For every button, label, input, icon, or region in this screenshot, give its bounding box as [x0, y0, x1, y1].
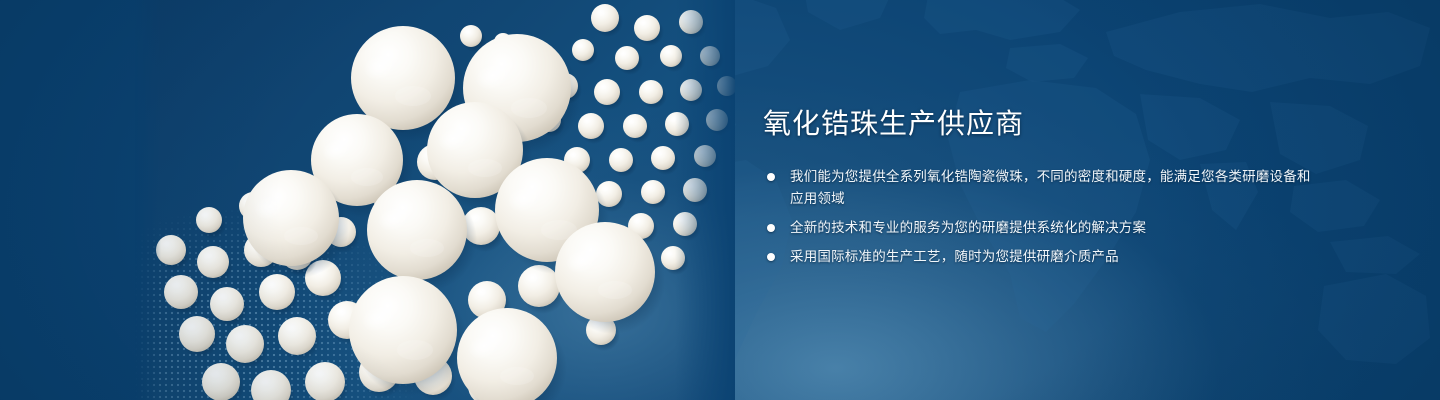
bullet-dot-icon: [767, 253, 775, 261]
feature-list: 我们能为您提供全系列氧化锆陶瓷微珠，不同的密度和硬度，能满足您各类研磨设备和应用…: [763, 166, 1323, 268]
banner-copy: 氧化锆珠生产供应商 我们能为您提供全系列氧化锆陶瓷微珠，不同的密度和硬度，能满足…: [763, 104, 1323, 268]
hero-banner: 氧化锆珠生产供应商 我们能为您提供全系列氧化锆陶瓷微珠，不同的密度和硬度，能满足…: [0, 0, 1440, 400]
list-item: 全新的技术和专业的服务为您的研磨提供系统化的解决方案: [763, 217, 1323, 239]
list-item: 我们能为您提供全系列氧化锆陶瓷微珠，不同的密度和硬度，能满足您各类研磨设备和应用…: [763, 166, 1323, 210]
bullet-dot-icon: [767, 173, 775, 181]
list-item-label: 全新的技术和专业的服务为您的研磨提供系统化的解决方案: [790, 217, 1323, 239]
list-item-label: 我们能为您提供全系列氧化锆陶瓷微珠，不同的密度和硬度，能满足您各类研磨设备和应用…: [790, 166, 1323, 210]
bullet-dot-icon: [767, 224, 775, 232]
page-title: 氧化锆珠生产供应商: [763, 104, 1323, 144]
list-item: 采用国际标准的生产工艺，随时为您提供研磨介质产品: [763, 246, 1323, 268]
list-item-label: 采用国际标准的生产工艺，随时为您提供研磨介质产品: [790, 246, 1323, 268]
